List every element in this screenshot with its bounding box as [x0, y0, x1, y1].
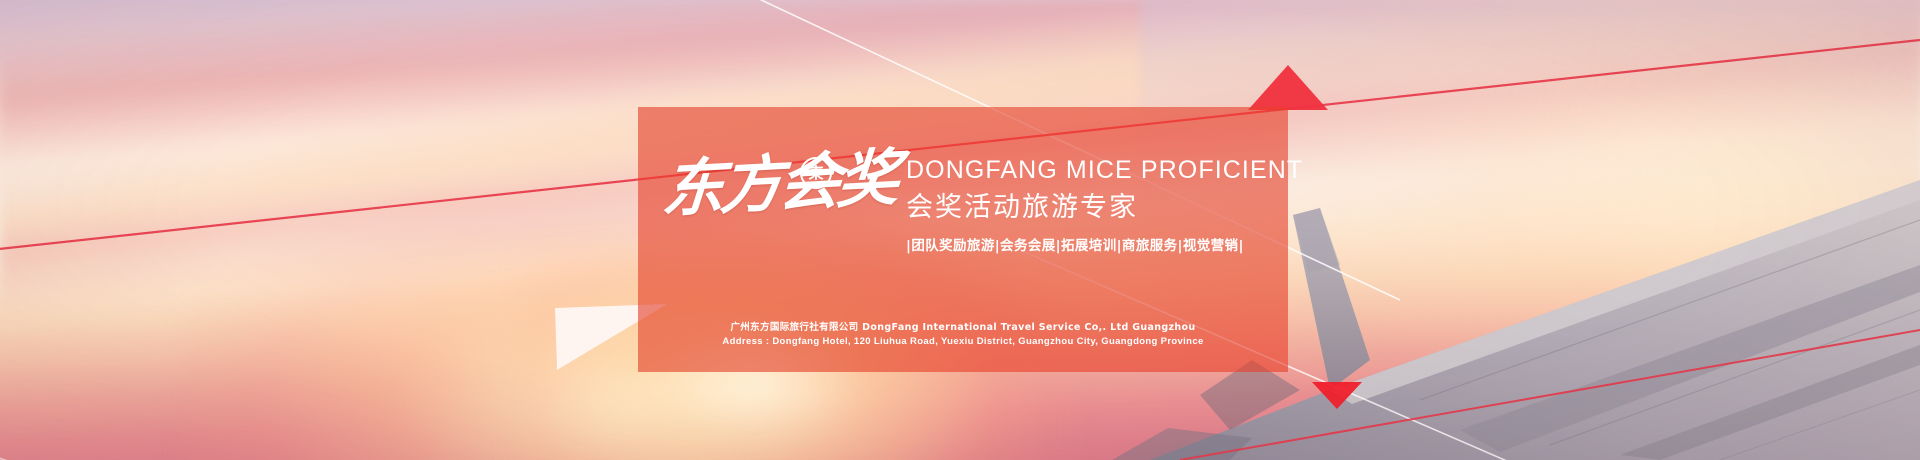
hero-banner: 东方会奖 東 DONGFANG MICE PROFICIENT 会奖活动旅游专家…	[0, 0, 1920, 460]
vignette-overlay	[0, 0, 1920, 460]
